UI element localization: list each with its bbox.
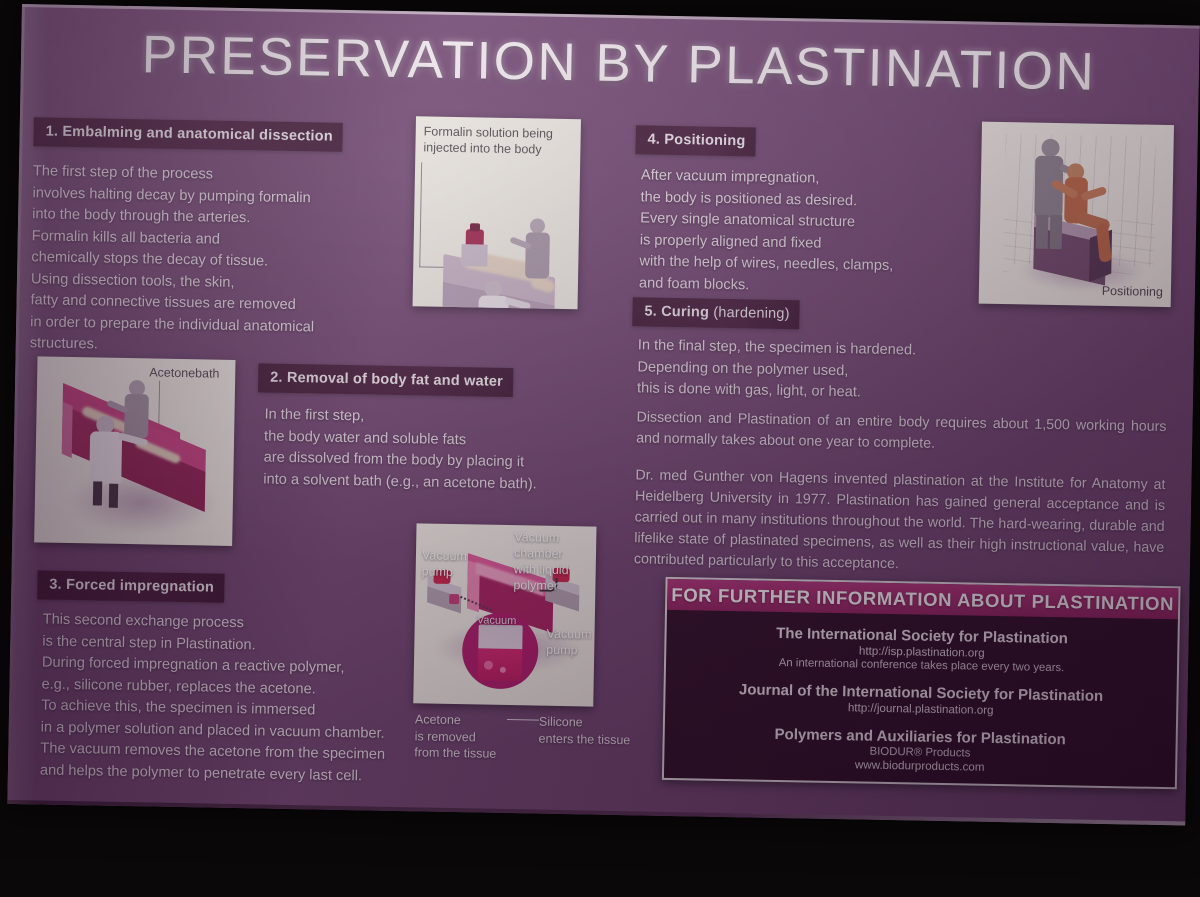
info-entry-isp: The International Society for Plastinati… xyxy=(666,623,1178,676)
figure-vacuum-pump-right-label: Vacuum pump xyxy=(546,626,596,659)
acetonebath-illustration xyxy=(34,356,235,546)
figure-acetone-removed-label: Acetone is removed from the tissue xyxy=(414,711,505,762)
info-entry-journal: Journal of the International Society for… xyxy=(665,680,1176,720)
step-1-heading: 1. Embalming and anatomical dissection xyxy=(33,117,343,152)
panel-bottom-edge xyxy=(7,800,1185,826)
step-5-heading: 5. Curing (hardening) xyxy=(632,297,800,329)
step-1-heading-label: 1. Embalming and anatomical dissection xyxy=(46,123,333,144)
figure-formalin-injection: Formalin solution being injected into th… xyxy=(413,116,581,309)
further-information-box: FOR FURTHER INFORMATION ABOUT PLASTINATI… xyxy=(662,577,1181,789)
paragraph-history: Dr. med Gunther von Hagens invented plas… xyxy=(634,465,1166,580)
page-title: PRESERVATION BY PLASTINATION xyxy=(129,24,1110,103)
figure-vacuum-pump-left-label: Vacuum pump xyxy=(422,547,475,580)
step-4-body: After vacuum impregnation, the body is p… xyxy=(639,165,971,300)
figure-positioning-caption: Positioning xyxy=(1102,283,1163,300)
step-2-body: In the first step, the body water and so… xyxy=(263,405,555,496)
further-information-title: FOR FURTHER INFORMATION ABOUT PLASTINATI… xyxy=(667,579,1178,619)
step-4-heading-label: 4. Positioning xyxy=(647,131,745,149)
step-4-heading: 4. Positioning xyxy=(635,125,755,156)
figure-silicone-enters-label: Silicone enters the tissue xyxy=(538,714,649,749)
step-2-heading: 2. Removal of body fat and water xyxy=(258,363,513,397)
figure-vacuum-chamber: Vacuum chamber with liquid polymer Vacuu… xyxy=(413,523,596,706)
exhibit-panel: PRESERVATION BY PLASTINATION 1. Embalmin… xyxy=(7,4,1199,825)
figure-acetonebath-caption: Acetonebath xyxy=(149,364,235,382)
photo-frame: PRESERVATION BY PLASTINATION 1. Embalmin… xyxy=(0,0,1200,897)
step-3-heading: 3. Forced impregnation xyxy=(37,570,224,602)
step-5-heading-sub: (hardening) xyxy=(709,305,790,322)
positioning-illustration xyxy=(979,122,1174,307)
paragraph-duration: Dissection and Plastination of an entire… xyxy=(636,407,1167,459)
step-3-body: This second exchange process is the cent… xyxy=(40,609,433,788)
figure-vacuum-chamber-label: Vacuum chamber with liquid polymer xyxy=(513,529,596,594)
step-3-heading-label: 3. Forced impregnation xyxy=(49,577,214,596)
step-5-body: In the final step, the specimen is harde… xyxy=(637,335,998,406)
figure-formalin-caption: Formalin solution being injected into th… xyxy=(423,123,574,158)
step-2-heading-label: 2. Removal of body fat and water xyxy=(270,370,503,390)
silicone-leader-line xyxy=(507,719,539,721)
step-5-heading-label: 5. Curing xyxy=(644,303,709,320)
figure-positioning: Positioning xyxy=(979,122,1174,307)
figure-acetone-bath: Acetonebath xyxy=(34,356,235,546)
info-entry-biodur: Polymers and Auxiliaries for Plastinatio… xyxy=(664,724,1176,777)
figure-vacuum-label: Vacuum xyxy=(477,612,537,629)
step-1-body: The first step of the process involves h… xyxy=(30,161,363,361)
